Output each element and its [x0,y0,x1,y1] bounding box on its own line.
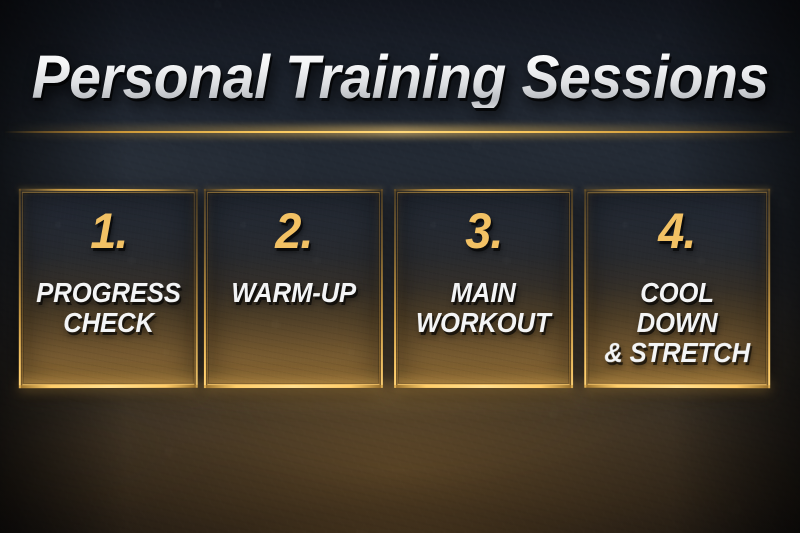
step-number: 4. [658,206,695,256]
step-label: WARM-UP [226,278,362,308]
step-card-4[interactable]: 4.COOL DOWN & STRETCH [584,189,770,389]
card-content: 2.WARM-UP [204,189,383,388]
page-title: Personal Training Sessions [31,46,768,108]
step-label: PROGRESS CHECK [31,278,187,339]
steps-row: 1.PROGRESS CHECK2.WARM-UP3.MAIN WORKOUT4… [0,189,800,389]
gold-divider-rule [4,129,796,134]
divider-line [4,131,796,133]
card-content: 4.COOL DOWN & STRETCH [584,189,770,389]
step-card-2[interactable]: 2.WARM-UP [204,189,383,388]
card-content: 1.PROGRESS CHECK [19,189,198,388]
step-number: 3. [465,206,502,256]
card-content: 3.MAIN WORKOUT [394,189,573,388]
step-label: COOL DOWN & STRETCH [592,278,763,369]
step-number: 1. [90,206,127,256]
title-block: Personal Training Sessions [0,46,800,108]
step-label: MAIN WORKOUT [411,278,557,339]
step-card-1[interactable]: 1.PROGRESS CHECK [19,189,198,388]
step-card-3[interactable]: 3.MAIN WORKOUT [394,189,573,388]
slide-canvas: Personal Training Sessions 1.PROGRESS CH… [0,0,800,533]
step-number: 2. [275,206,312,256]
